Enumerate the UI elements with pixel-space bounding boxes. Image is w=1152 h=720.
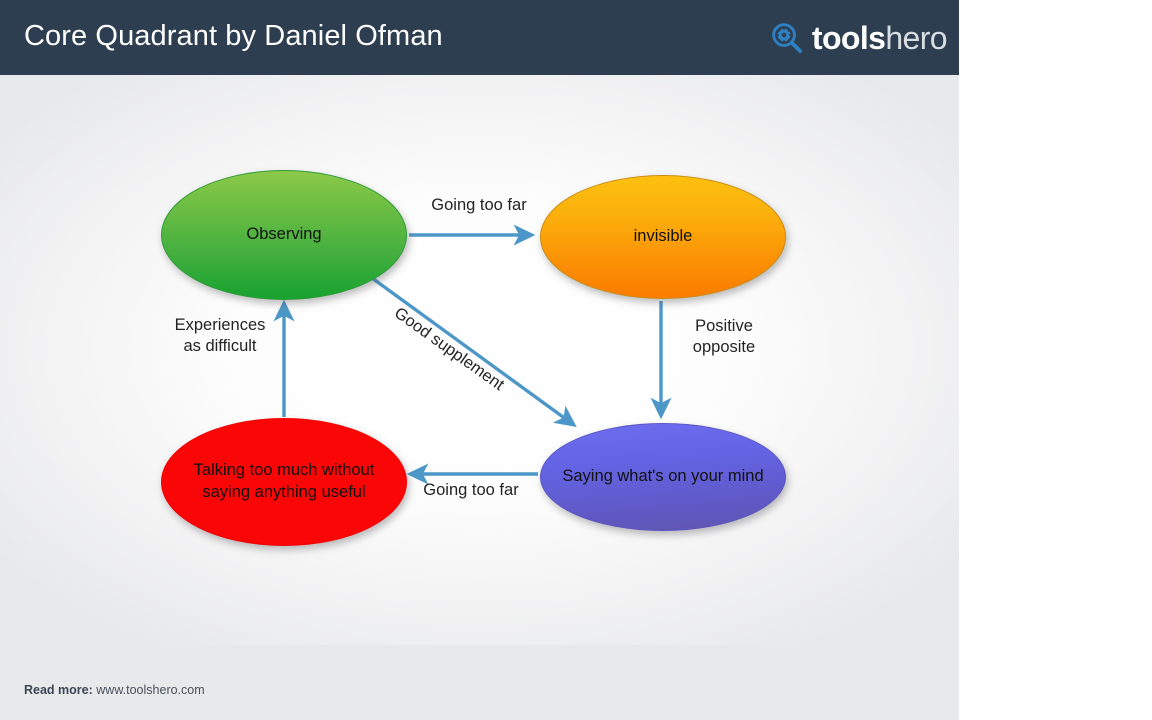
node-challenge[interactable]: Saying what's on your mind: [540, 423, 786, 531]
slide: Core Quadrant by Daniel Ofman: [0, 0, 959, 720]
diagram-canvas: Observing invisible Talking too much wit…: [0, 75, 959, 645]
logo-text-hero: hero: [885, 20, 947, 56]
read-more-label: Read more:: [24, 683, 93, 697]
node-challenge-label: Saying what's on your mind: [548, 466, 777, 488]
node-pitfall-label: Talking too much without saying anything…: [162, 460, 406, 504]
node-core-quality-label: Observing: [232, 224, 335, 246]
edge-label-positive-opposite: Positive opposite: [664, 316, 784, 359]
logo-wordmark: toolshero: [812, 21, 947, 55]
toolshero-logo: toolshero: [770, 16, 947, 60]
edge-label-experiences-as-difficult: Experiences as difficult: [140, 315, 300, 358]
node-core-quality[interactable]: Observing: [161, 170, 407, 300]
node-allergy-label: invisible: [620, 226, 707, 248]
slide-header: Core Quadrant by Daniel Ofman: [0, 0, 959, 75]
page-title: Core Quadrant by Daniel Ofman: [24, 20, 443, 53]
node-allergy[interactable]: invisible: [540, 175, 786, 299]
footer-read-more: Read more: www.toolshero.com: [24, 683, 205, 697]
toolshero-url[interactable]: www.toolshero.com: [96, 683, 204, 697]
edge-label-going-too-far-bottom: Going too far: [396, 480, 546, 501]
arrow-diagonal: [372, 278, 574, 425]
edge-label-going-too-far-top: Going too far: [404, 195, 554, 216]
logo-text-tools: tools: [812, 20, 885, 56]
magnifier-gear-icon: [770, 21, 804, 55]
node-pitfall[interactable]: Talking too much without saying anything…: [161, 418, 407, 546]
